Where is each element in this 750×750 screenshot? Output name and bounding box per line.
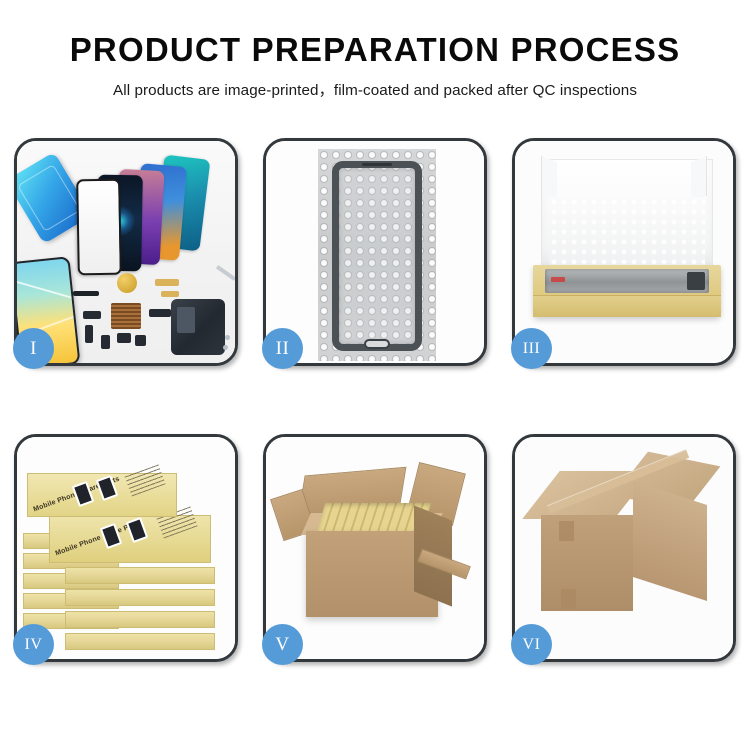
step-3-image [515, 141, 733, 363]
page-title: PRODUCT PREPARATION PROCESS [0, 33, 750, 68]
camera-module-icon [117, 273, 137, 293]
home-button-icon [364, 339, 390, 349]
phone-lineup [75, 157, 225, 269]
ic-icon [135, 335, 146, 346]
screw-icon [225, 335, 230, 340]
step-3-backdrop [515, 141, 733, 363]
step-badge-2: II [262, 328, 303, 369]
copper-mesh-icon [111, 303, 141, 329]
kraft-inner-box-icon [533, 265, 721, 317]
process-step-panel-4[interactable]: Mobile Phone Spare Parts Mobile Phone Sp… [14, 434, 238, 662]
button-flex-icon [149, 309, 171, 317]
carton-front-face-icon [541, 515, 633, 611]
foam-padding-icon [549, 197, 705, 269]
retail-box-icon [65, 567, 215, 584]
step-badge-5: V [262, 624, 303, 665]
step-4-backdrop: Mobile Phone Spare Parts Mobile Phone Sp… [17, 437, 235, 659]
step-5-image [266, 437, 484, 659]
page-subtitle: All products are image-printed，film-coat… [0, 78, 750, 100]
product-preparation-page: PRODUCT PREPARATION PROCESS All products… [0, 0, 750, 750]
step-badge-3: III [511, 328, 552, 369]
sim-tray-icon [101, 335, 110, 349]
retail-box-icon [65, 633, 215, 650]
carton-tape-tab-icon [561, 589, 576, 609]
page-header: PRODUCT PREPARATION PROCESS All products… [0, 0, 750, 100]
process-step-panel-6[interactable]: VI [512, 434, 736, 662]
flex-cable-icon [155, 279, 179, 286]
phone-screen-icon [332, 161, 422, 351]
wrapped-screen-icon [545, 269, 709, 293]
retail-box-icon [65, 589, 215, 606]
step-6-image [515, 437, 733, 659]
step-6-backdrop [515, 437, 733, 659]
carton-tape-tab-icon [559, 521, 574, 541]
process-step-panel-2[interactable]: II [263, 138, 487, 366]
carton-side-face-icon [633, 481, 707, 601]
connector-icon [83, 311, 101, 319]
bubble-wrap-icon [318, 149, 436, 361]
phone-white-glass-icon [76, 179, 122, 276]
process-step-grid: I II [14, 138, 736, 662]
process-step-panel-5[interactable]: V [263, 434, 487, 662]
step-5-backdrop [266, 437, 484, 659]
step-badge-6: VI [511, 624, 552, 665]
screw-icon [223, 345, 228, 350]
speaker-bar-icon [73, 291, 99, 296]
process-step-panel-3[interactable]: III [512, 138, 736, 366]
step-badge-4: IV [13, 624, 54, 665]
chip-icon [117, 333, 131, 343]
flex-cable-small-icon [161, 291, 179, 297]
step-4-image: Mobile Phone Spare Parts Mobile Phone Sp… [17, 437, 235, 659]
process-step-panel-1[interactable]: I [14, 138, 238, 366]
retail-box-icon [65, 611, 215, 628]
box-lid-left-flap-icon [541, 156, 557, 202]
box-lid-right-flap-icon [691, 156, 707, 202]
step-2-image [266, 141, 484, 363]
logic-board-icon [171, 299, 225, 355]
box-front-panel-icon [533, 295, 721, 317]
ribbon-cable-icon [85, 325, 93, 343]
step-badge-1: I [13, 328, 54, 369]
step-1-image [17, 141, 235, 363]
spare-parts-group [73, 269, 235, 361]
